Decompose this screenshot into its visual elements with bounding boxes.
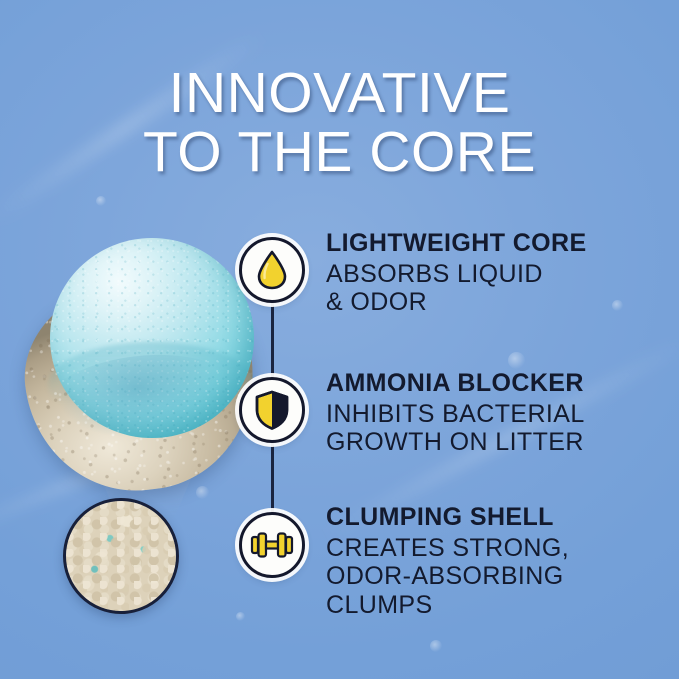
bokeh-decor [236,612,245,621]
feature-description: ABSORBS LIQUID & ODOR [326,260,656,317]
feature-desc-line: INHIBITS BACTERIAL [326,400,656,429]
feature-desc-line: & ODOR [326,288,656,317]
feature-title: AMMONIA BLOCKER [326,370,656,398]
feature-desc-line: GROWTH ON LITTER [326,428,656,457]
bokeh-decor [508,352,525,369]
feature-badge-clumping-shell[interactable] [239,512,305,578]
feature-description: CREATES STRONG, ODOR-ABSORBING CLUMPS [326,534,656,620]
cutaway-litter-sphere [18,238,270,494]
feature-desc-line: CLUMPS [326,591,656,620]
feature-badge-ammonia-blocker[interactable] [239,377,305,443]
dumbbell-icon [250,530,294,560]
feature-badge-lightweight-core[interactable] [239,237,305,303]
light-ray-decor [0,29,266,227]
headline-line-2: TO THE CORE [0,123,679,182]
feature-desc-line: ABSORBS LIQUID [326,260,656,289]
feature-title: CLUMPING SHELL [326,504,656,532]
feature-desc-line: CREATES STRONG, [326,534,656,563]
litter-texture [66,501,176,611]
bokeh-decor [96,196,106,206]
droplet-icon [255,250,289,290]
feature-text-ammonia-blocker: AMMONIA BLOCKER INHIBITS BACTERIAL GROWT… [326,370,656,457]
feature-title: LIGHTWEIGHT CORE [326,230,656,258]
shield-icon [253,390,291,430]
feature-text-clumping-shell: CLUMPING SHELL CREATES STRONG, ODOR-ABSO… [326,504,656,619]
litter-granules-closeup [63,498,179,614]
page-title: INNOVATIVE TO THE CORE [0,64,679,183]
feature-desc-line: ODOR-ABSORBING [326,562,656,591]
feature-text-lightweight-core: LIGHTWEIGHT CORE ABSORBS LIQUID & ODOR [326,230,656,317]
core-shadow-lip [48,342,256,428]
infographic-panel: INNOVATIVE TO THE CORE [0,0,679,679]
bokeh-decor [430,640,442,652]
headline-line-1: INNOVATIVE [169,61,511,125]
feature-description: INHIBITS BACTERIAL GROWTH ON LITTER [326,400,656,457]
